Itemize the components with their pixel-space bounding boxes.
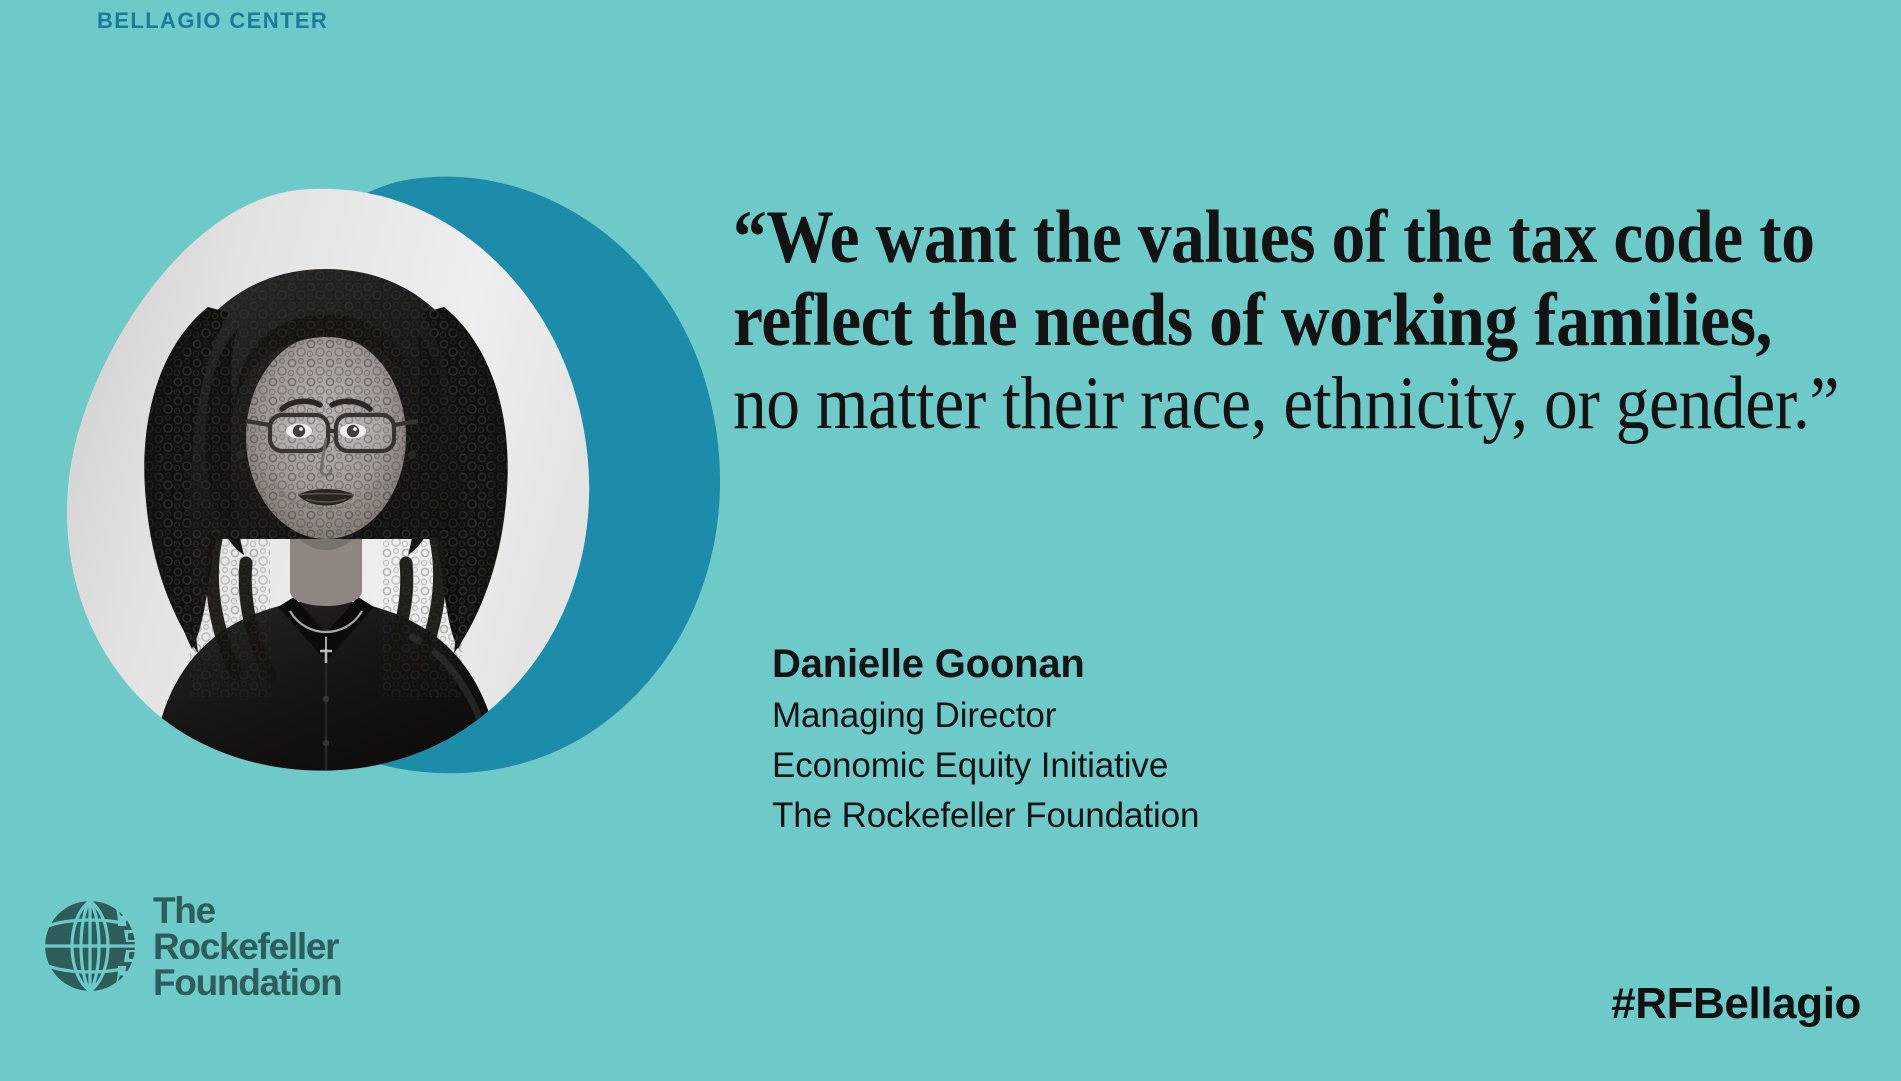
quote-emphasis-text: We want the values of the tax code to re… bbox=[733, 196, 1815, 362]
quote-rest-text: no matter their race, ethnicity, or gend… bbox=[733, 362, 1809, 445]
speaker-title: Managing Director bbox=[772, 691, 1199, 741]
quote-card: “We want the values of the tax code to r… bbox=[0, 0, 1901, 1081]
speaker-division: Economic Equity Initiative bbox=[772, 741, 1199, 791]
portrait-photo bbox=[40, 187, 610, 777]
logo-wordmark: The Rockefeller Foundation bbox=[153, 893, 341, 1001]
hashtag: #RFBellagio bbox=[1611, 979, 1861, 1029]
rockefeller-foundation-logo: The Rockefeller Foundation bbox=[40, 893, 341, 1001]
speaker-organization: The Rockefeller Foundation bbox=[772, 791, 1199, 841]
logo-line-the: The bbox=[153, 893, 341, 929]
quote-block: “We want the values of the tax code to r… bbox=[733, 196, 1843, 445]
logo-line-foundation: Foundation bbox=[153, 965, 341, 1001]
quote-emphasis: “We want the values of the tax code to r… bbox=[733, 196, 1815, 362]
attribution-block: Danielle Goonan Managing Director Econom… bbox=[772, 637, 1199, 841]
portrait-composition bbox=[40, 165, 730, 795]
quote-open-mark: “ bbox=[733, 196, 766, 279]
logo-line-rockefeller: Rockefeller bbox=[153, 929, 341, 965]
quote-close-mark: ” bbox=[1809, 362, 1839, 445]
logo-subtitle-bellagio-center: BELLAGIO CENTER bbox=[97, 5, 1901, 37]
quote-text: “We want the values of the tax code to r… bbox=[733, 196, 1840, 445]
quote-remainder: no matter their race, ethnicity, or gend… bbox=[733, 362, 1839, 445]
globe-icon bbox=[40, 896, 140, 996]
speaker-name: Danielle Goonan bbox=[772, 637, 1199, 691]
